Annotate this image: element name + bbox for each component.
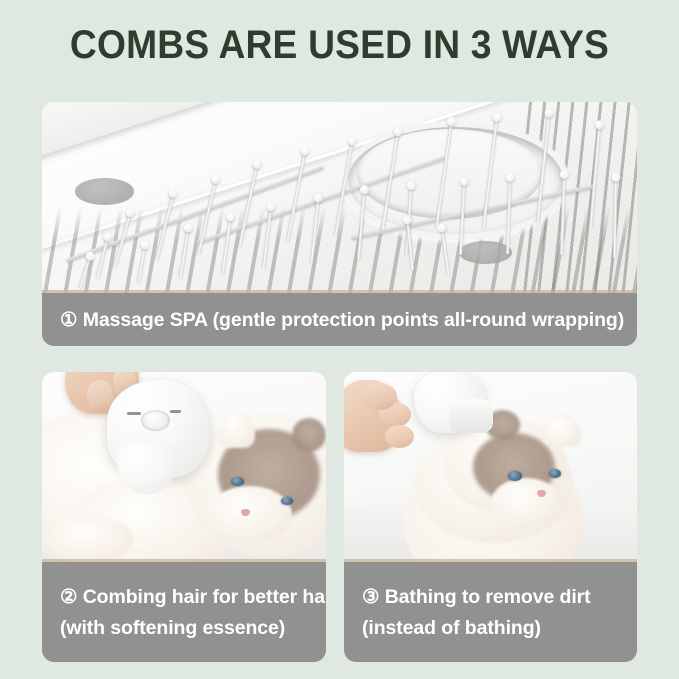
- finger: [362, 383, 397, 410]
- device-label: [170, 410, 181, 413]
- cat-ear-right: [292, 418, 326, 452]
- cat-bathing-photo: [344, 372, 637, 562]
- device-button: [141, 410, 169, 431]
- finger: [385, 425, 414, 448]
- page-title: COMBS ARE USED IN 3 WAYS: [24, 22, 655, 68]
- cat-paw: [48, 516, 133, 562]
- caption-line: (with softening essence): [60, 613, 326, 644]
- cat-muzzle: [207, 486, 292, 543]
- panel-bathing: ③ Bathing to remove dirt (instead of bat…: [344, 372, 637, 662]
- caption-line: (instead of bathing): [362, 613, 637, 644]
- cat-ear-right: [543, 414, 581, 446]
- caption-line: ② Combing hair for better hair: [60, 582, 326, 613]
- panel-caption: ② Combing hair for better hair (with sof…: [42, 562, 326, 662]
- comb-oval-hole-left: [75, 178, 135, 205]
- cat-eye-left: [231, 477, 244, 486]
- device-label: [127, 412, 141, 415]
- infographic-page: COMBS ARE USED IN 3 WAYS: [0, 0, 679, 679]
- comb-pins-photo: [42, 102, 637, 293]
- cat-combing-photo: [42, 372, 326, 562]
- panel-caption: ① Massage SPA (gentle protection points …: [42, 293, 637, 346]
- panel-massage-spa: ① Massage SPA (gentle protection points …: [42, 102, 637, 346]
- cat-eye-left: [508, 471, 522, 481]
- cat-eye-right: [549, 469, 561, 478]
- caption-line: ① Massage SPA (gentle protection points …: [60, 308, 624, 332]
- panel-combing-hair: ② Combing hair for better hair (with sof…: [42, 372, 326, 662]
- panel-caption: ③ Bathing to remove dirt (instead of bat…: [344, 562, 637, 662]
- grooming-device-head: [449, 399, 493, 433]
- cat-nose: [241, 509, 250, 516]
- caption-line: ③ Bathing to remove dirt: [362, 582, 637, 613]
- cat-muzzle: [491, 478, 561, 527]
